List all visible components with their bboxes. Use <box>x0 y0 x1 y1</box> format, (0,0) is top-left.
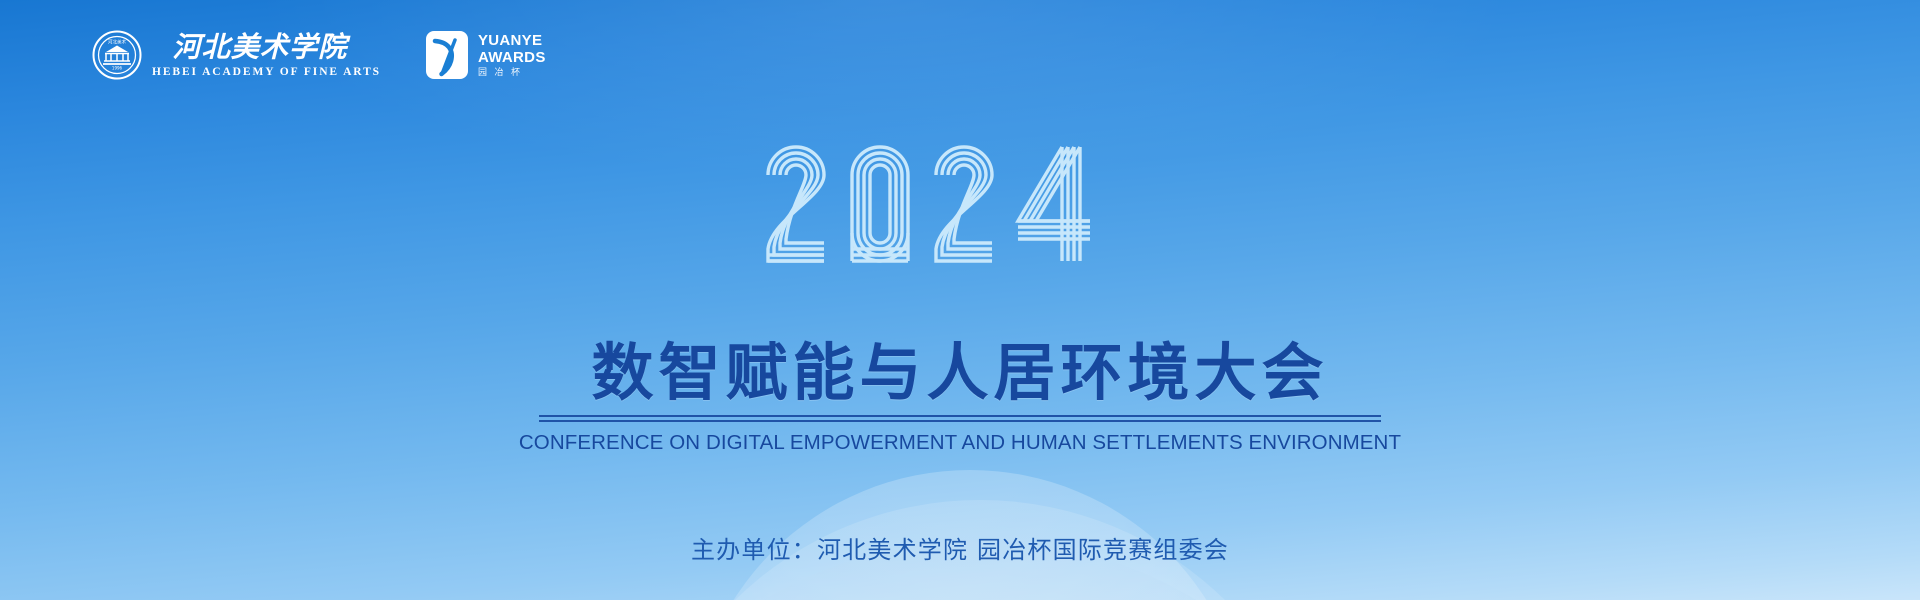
academy-name-cn-wordmark: 河北美术学院 <box>152 31 381 63</box>
yuanye-line3-cn: 园 冶 杯 <box>478 68 546 77</box>
hebei-academy-logo[interactable]: 河北美术 1996 河北美术学院 HEBEI ACADEMY OF FINE A… <box>92 30 381 80</box>
headline-block: 数智赋能与人居环境大会 CONFERENCE ON DIGITAL EMPOWE… <box>0 340 1920 455</box>
svg-text:河北美术学院: 河北美术学院 <box>172 31 351 63</box>
academy-name-en: HEBEI ACADEMY OF FINE ARTS <box>152 67 381 79</box>
svg-text:河北美术: 河北美术 <box>108 39 126 46</box>
page-title-en: CONFERENCE ON DIGITAL EMPOWERMENT AND HU… <box>519 431 1401 455</box>
yuanye-awards-logo[interactable]: YUANYE AWARDS 园 冶 杯 <box>425 30 546 80</box>
divider-line-top <box>539 415 1381 417</box>
title-divider <box>539 415 1381 422</box>
logo-row: 河北美术 1996 河北美术学院 HEBEI ACADEMY OF FINE A… <box>92 30 546 80</box>
academy-seal-icon: 河北美术 1996 <box>92 30 142 80</box>
yuanye-line2: AWARDS <box>478 50 546 65</box>
page-title-cn: 数智赋能与人居环境大会 <box>591 340 1328 407</box>
conference-banner: 河北美术 1996 河北美术学院 HEBEI ACADEMY OF FINE A… <box>0 0 1920 600</box>
year-2024-striped-icon <box>760 135 1160 283</box>
divider-line-bottom <box>539 420 1381 422</box>
yuanye-line1: YUANYE <box>478 33 546 48</box>
yuanye-awards-mark-icon <box>425 30 469 80</box>
year-graphic <box>0 135 1920 283</box>
organizer-line: 主办单位：河北美术学院 园冶杯国际竞赛组委会 <box>0 530 1920 565</box>
svg-text:1996: 1996 <box>112 66 123 71</box>
